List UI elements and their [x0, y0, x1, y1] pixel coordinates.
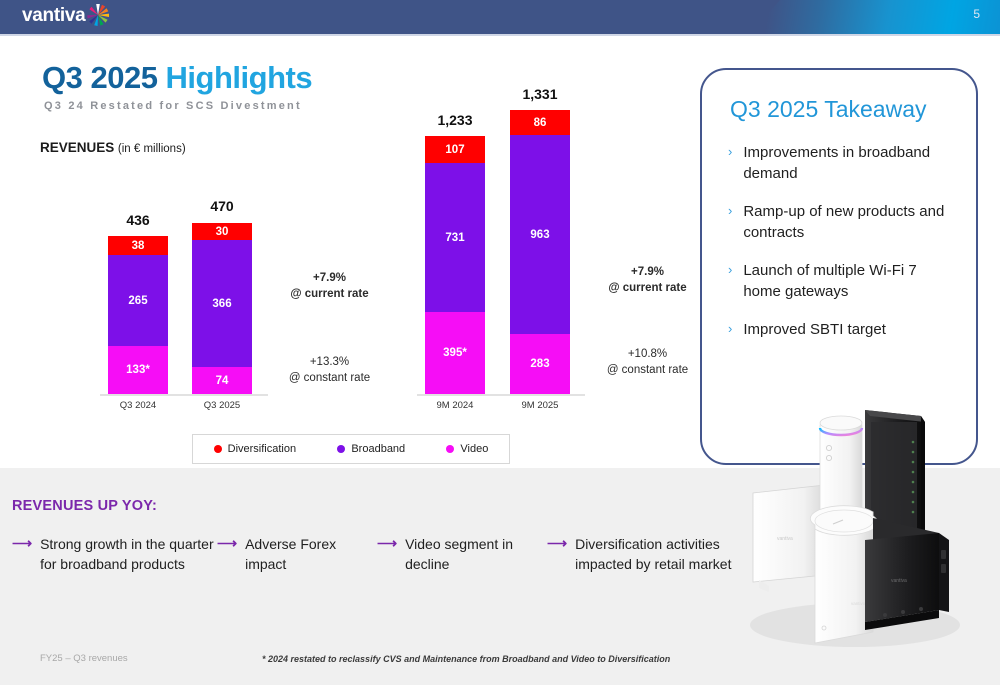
- svg-text:vantiva: vantiva: [851, 601, 866, 606]
- takeaway-item: › Ramp-up of new products and contracts: [728, 201, 956, 243]
- annotation-quarter-constant-rate: +13.3% @ constant rate: [272, 354, 387, 386]
- segment-value: 265: [128, 295, 147, 307]
- bar-category-q3-2024: Q3 2024: [93, 400, 183, 411]
- annotation-value: +7.9%: [272, 270, 387, 286]
- chart-legend: Diversification Broadband Video: [192, 434, 510, 464]
- band-item: ⟶ Adverse Forex impact: [217, 534, 377, 574]
- legend-label: Video: [460, 443, 488, 455]
- band-title: REVENUES UP YOY:: [12, 498, 157, 514]
- band-item-label: Video segment in decline: [405, 534, 547, 574]
- segment-value: 395*: [443, 347, 467, 359]
- chevron-right-icon: ›: [728, 142, 732, 184]
- annotation-ninemonth-constant-rate: +10.8% @ constant rate: [590, 346, 705, 378]
- segment-value: 74: [216, 375, 229, 387]
- takeaway-item-label: Improvements in broadband demand: [743, 142, 956, 184]
- segment-value: 283: [530, 358, 549, 370]
- arrow-right-icon: ⟶: [12, 534, 32, 574]
- annotation-caption: @ constant rate: [590, 362, 705, 378]
- takeaway-list: › Improvements in broadband demand › Ram…: [728, 142, 956, 357]
- legend-dot-icon: [214, 445, 222, 453]
- takeaway-item-label: Improved SBTI target: [743, 319, 886, 340]
- legend-dot-icon: [446, 445, 454, 453]
- segment-video-q3-2024: 133*: [108, 346, 168, 394]
- svg-text:vantiva: vantiva: [891, 578, 907, 584]
- legend-item-diversification[interactable]: Diversification: [214, 443, 296, 455]
- takeaway-title: Q3 2025 Takeaway: [730, 96, 927, 123]
- product-devices-image: vantiva: [725, 400, 1000, 650]
- segment-broadband-9m-2024: 731: [425, 163, 485, 312]
- segment-video-9m-2025: 283: [510, 334, 570, 394]
- band-item: ⟶ Video segment in decline: [377, 534, 547, 574]
- bar-category-9m-2024: 9M 2024: [410, 400, 500, 411]
- segment-diversification-9m-2025: 86: [510, 110, 570, 135]
- revenues-stacked-bar-chart: 436 38 265 133* Q3 2024 470 30 366 74 Q3…: [0, 0, 700, 420]
- segment-broadband-q3-2024: 265: [108, 255, 168, 346]
- annotation-caption: @ constant rate: [272, 370, 387, 386]
- arrow-right-icon: ⟶: [547, 534, 567, 574]
- takeaway-item: › Improved SBTI target: [728, 319, 956, 340]
- bar-q3-2024: 38 265 133*: [108, 236, 168, 394]
- legend-item-broadband[interactable]: Broadband: [337, 443, 405, 455]
- legend-item-video[interactable]: Video: [446, 443, 488, 455]
- annotation-caption: @ current rate: [272, 286, 387, 302]
- segment-value: 366: [212, 298, 231, 310]
- bar-category-q3-2025: Q3 2025: [177, 400, 267, 411]
- legend-dot-icon: [337, 445, 345, 453]
- legend-label: Diversification: [228, 443, 296, 455]
- legend-label: Broadband: [351, 443, 405, 455]
- bar-total-9m-2025: 1,331: [510, 86, 570, 102]
- annotation-caption: @ current rate: [590, 280, 705, 296]
- segment-diversification-q3-2025: 30: [192, 223, 252, 240]
- bar-total-9m-2024: 1,233: [425, 112, 485, 128]
- takeaway-item: › Improvements in broadband demand: [728, 142, 956, 184]
- band-item-label: Strong growth in the quarter for broadba…: [40, 534, 217, 574]
- axis-line-quarter: [100, 394, 268, 396]
- segment-value: 38: [132, 240, 145, 252]
- segment-value: 30: [216, 226, 229, 238]
- bar-total-q3-2024: 436: [108, 212, 168, 228]
- takeaway-item-label: Launch of multiple Wi-Fi 7 home gateways: [743, 260, 956, 302]
- segment-video-q3-2025: 74: [192, 367, 252, 394]
- arrow-right-icon: ⟶: [217, 534, 237, 574]
- segment-value: 86: [534, 117, 547, 129]
- segment-broadband-9m-2025: 963: [510, 135, 570, 334]
- segment-diversification-q3-2024: 38: [108, 236, 168, 255]
- footer-left-text: FY25 – Q3 revenues: [40, 653, 128, 664]
- segment-value: 731: [445, 232, 464, 244]
- arrow-right-icon: ⟶: [377, 534, 397, 574]
- annotation-quarter-current-rate: +7.9% @ current rate: [272, 270, 387, 302]
- segment-value: 963: [530, 229, 549, 241]
- header-accent-shape: [750, 0, 1000, 34]
- axis-line-ninemonth: [417, 394, 585, 396]
- takeaway-item: › Launch of multiple Wi-Fi 7 home gatewa…: [728, 260, 956, 302]
- footer-note-text: * 2024 restated to reclassify CVS and Ma…: [262, 654, 670, 664]
- band-item-label: Adverse Forex impact: [245, 534, 377, 574]
- chevron-right-icon: ›: [728, 319, 732, 340]
- bar-9m-2024: 107 731 395*: [425, 136, 485, 394]
- annotation-ninemonth-current-rate: +7.9% @ current rate: [590, 264, 705, 296]
- segment-video-9m-2024: 395*: [425, 312, 485, 394]
- segment-broadband-q3-2025: 366: [192, 240, 252, 367]
- page-number: 5: [973, 7, 980, 21]
- svg-text:vantiva: vantiva: [777, 536, 793, 542]
- chevron-right-icon: ›: [728, 201, 732, 243]
- segment-value: 133*: [126, 364, 150, 376]
- bar-total-q3-2025: 470: [192, 198, 252, 214]
- segment-value: 107: [445, 144, 464, 156]
- band-item: ⟶ Strong growth in the quarter for broad…: [12, 534, 217, 574]
- chevron-right-icon: ›: [728, 260, 732, 302]
- annotation-value: +10.8%: [590, 346, 705, 362]
- takeaway-item-label: Ramp-up of new products and contracts: [743, 201, 956, 243]
- bar-category-9m-2025: 9M 2025: [495, 400, 585, 411]
- annotation-value: +13.3%: [272, 354, 387, 370]
- annotation-value: +7.9%: [590, 264, 705, 280]
- segment-diversification-9m-2024: 107: [425, 136, 485, 163]
- band-items: ⟶ Strong growth in the quarter for broad…: [12, 534, 752, 574]
- band-item: ⟶ Diversification activities impacted by…: [547, 534, 752, 574]
- bar-9m-2025: 86 963 283: [510, 110, 570, 394]
- bar-q3-2025: 30 366 74: [192, 223, 252, 394]
